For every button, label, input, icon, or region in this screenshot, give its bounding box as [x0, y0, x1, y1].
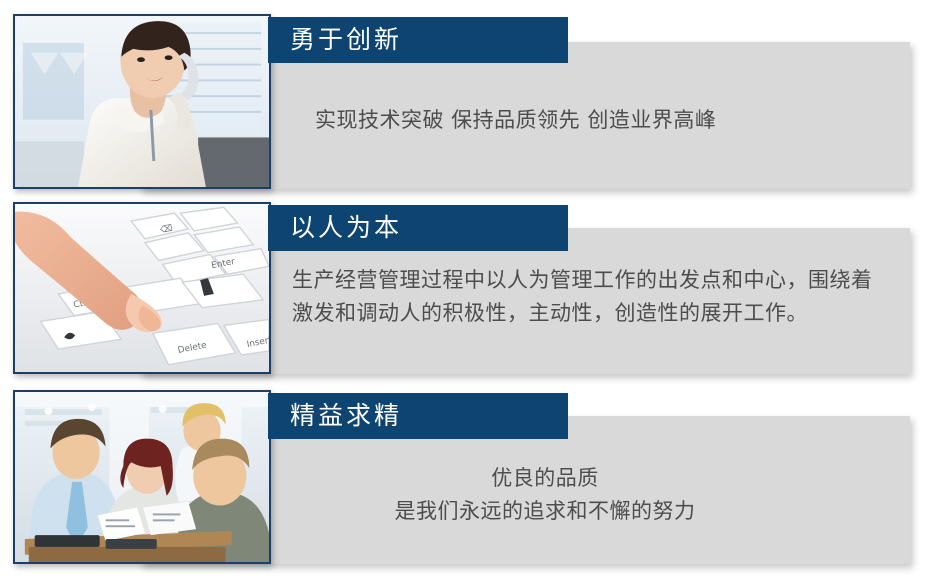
section-body-text: 实现技术突破 保持品质领先 创造业界高峰 [315, 104, 900, 137]
section-body-text: 生产经营管理过程中以人为管理工作的出发点和中心，围绕着激发和调动人的积极性，主动… [292, 264, 888, 330]
section-banner: 勇于创新 [268, 17, 568, 63]
section-banner-title: 以人为本 [290, 205, 402, 251]
section-banner-title: 勇于创新 [290, 17, 402, 63]
culture-board: 实现技术突破 保持品质领先 创造业界高峰 [0, 0, 949, 584]
section-banner-title: 精益求精 [290, 393, 402, 439]
finger-on-keyboard-photo: ⌫ Enter Ctrl Delete Insert [13, 202, 271, 374]
section-body-text: 优良的品质 是我们永远的追求和不懈的努力 [300, 462, 790, 528]
business-team-meeting-photo [13, 390, 271, 564]
section-banner: 精益求精 [268, 393, 568, 439]
businesswoman-on-phone-photo [13, 14, 271, 189]
section-banner: 以人为本 [268, 205, 568, 251]
